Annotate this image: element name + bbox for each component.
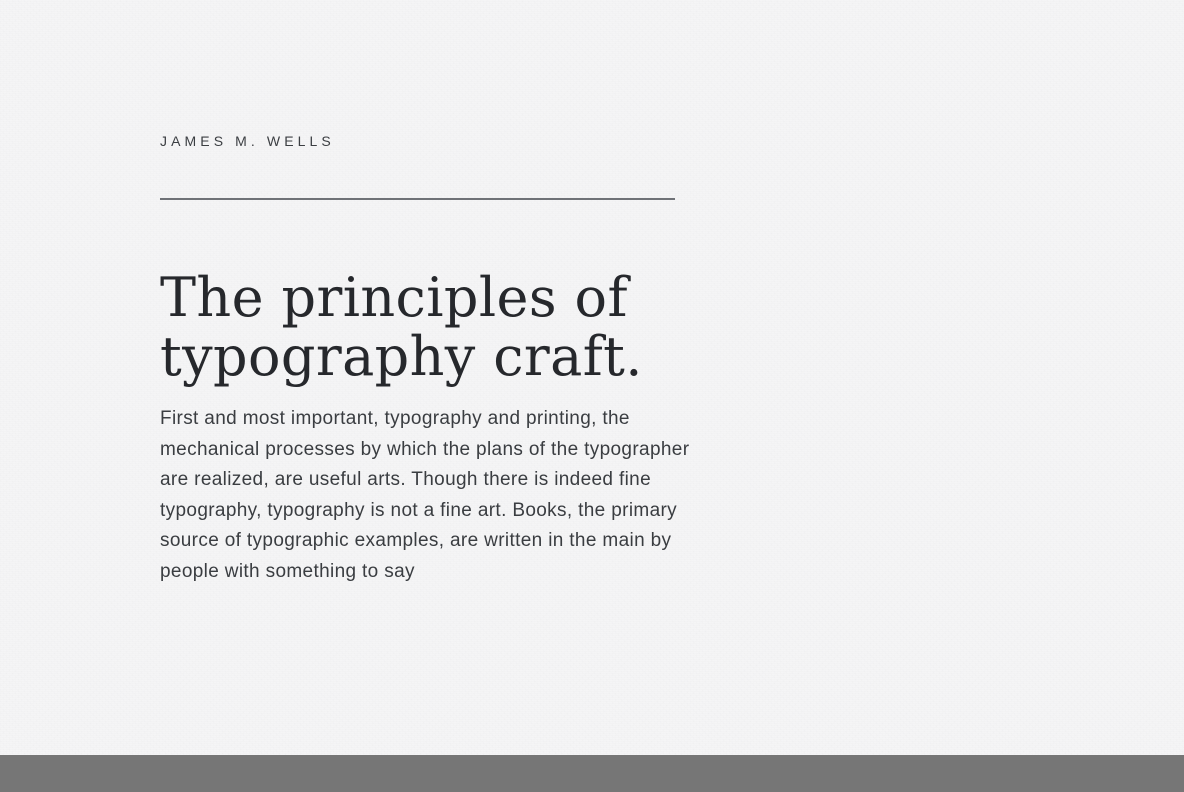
slide-headline: The principles of typography craft. xyxy=(160,268,760,386)
body-paragraph: First and most important, typography and… xyxy=(160,404,722,587)
presentation-slide: JAMES M. WELLS The principles of typogra… xyxy=(0,0,1184,792)
footer-bar xyxy=(0,755,1184,792)
paper-texture-overlay xyxy=(0,0,1184,792)
author-name: JAMES M. WELLS xyxy=(160,133,335,149)
divider-rule xyxy=(160,198,675,200)
